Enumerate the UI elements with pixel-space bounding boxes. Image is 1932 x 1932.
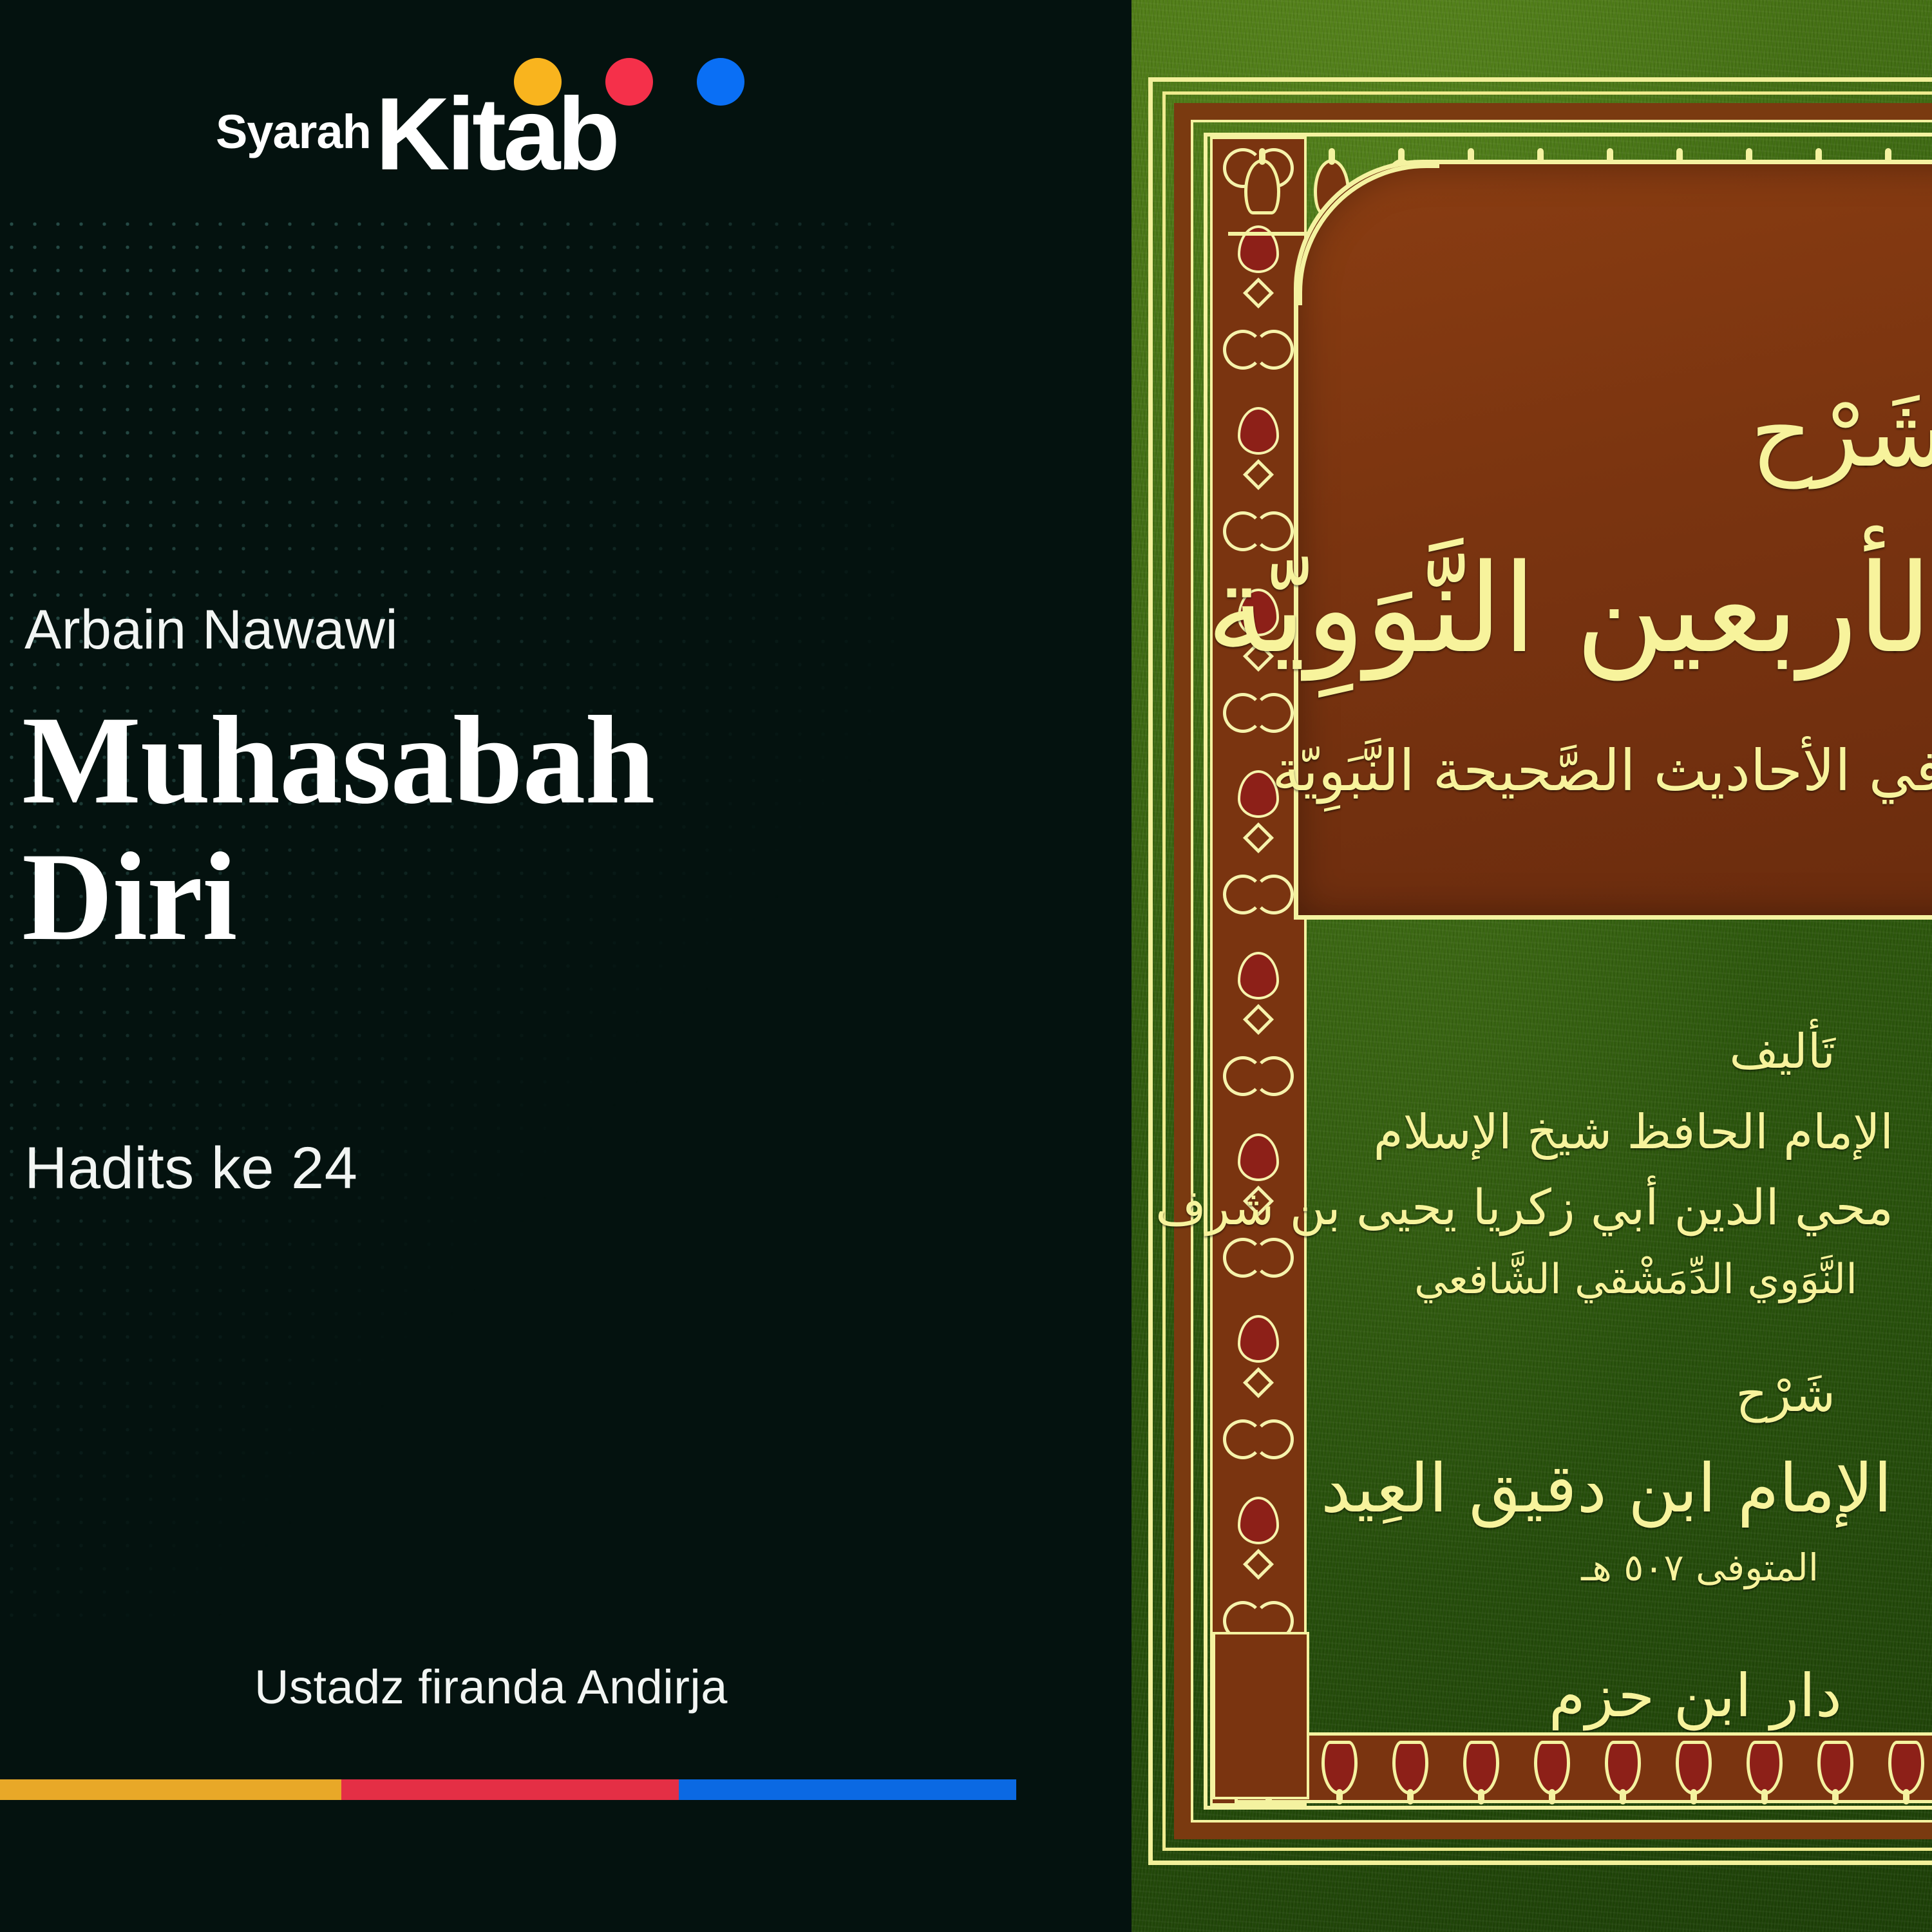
arabesque-scroll-motif (1218, 325, 1299, 406)
arabic-death-year: المتوفى ٥٠٧ هـ (1581, 1546, 1819, 1589)
blue-dot-icon (697, 58, 744, 106)
arabic-main-title: الأربعين النَّوَوِيّة (1206, 538, 1932, 680)
arabesque-diamond-motif (1243, 278, 1274, 308)
fleur-motif (1891, 1744, 1921, 1792)
arabesque-petal-motif (1240, 1136, 1276, 1179)
fleur-motif (1750, 1744, 1779, 1792)
corner-arabesque (1213, 1632, 1309, 1799)
title-panel: شَرْح الأربعين النَّوَوِيّة في الأحاديث … (1294, 160, 1932, 920)
arabesque-petal-motif (1240, 410, 1276, 452)
arabesque-petal-motif (1240, 954, 1276, 997)
page-title: Muhasabah Diri (22, 692, 1117, 965)
accent-bar-red (341, 1779, 679, 1800)
arabic-author-line-2: محي الدين أبي زكريا يحيى بن شرف (1155, 1179, 1893, 1236)
arabesque-scroll-motif (1218, 1233, 1299, 1314)
arabesque-side-column (1210, 137, 1307, 1806)
arabic-taklif-label: تَأليف (1729, 1024, 1835, 1079)
arabesque-diamond-motif (1243, 1549, 1274, 1580)
arabesque-scroll-motif (1218, 1414, 1299, 1495)
arabic-sharh-label: شَرْح (1736, 1365, 1835, 1423)
arabesque-petal-motif (1240, 773, 1276, 815)
arabesque-petal-motif (1240, 1318, 1276, 1360)
arabic-sharh-word: شَرْح (1750, 377, 1932, 489)
arabic-publisher: دار ابن حزم (1549, 1662, 1842, 1730)
page-subtitle: Hadits ke 24 (24, 1139, 357, 1198)
arabic-author-line-1: الإمام الحافظ شيخ الإسلام (1374, 1104, 1893, 1160)
arabesque-petal-motif (1240, 1499, 1276, 1542)
fleur-motif (1396, 1744, 1425, 1792)
book-cover-image: شَرْح الأربعين النَّوَوِيّة في الأحاديث … (1132, 0, 1932, 1932)
accent-bar-blue (679, 1779, 1016, 1800)
arabic-commentator: الإمام ابن دقيق العِيد (1321, 1449, 1892, 1528)
arabesque-diamond-motif (1243, 1367, 1274, 1398)
arabesque-scroll-motif (1218, 1051, 1299, 1132)
arabesque-scroll-motif (1218, 869, 1299, 951)
arabic-author-line-3: النَّوَوي الدِّمَشْقي الشَّافعي (1414, 1256, 1857, 1303)
fleur-motif (1679, 1744, 1709, 1792)
fleur-motif (1247, 162, 1277, 211)
fleur-motif (1466, 1744, 1496, 1792)
arabesque-diamond-motif (1243, 822, 1274, 853)
brand-logo[interactable]: Syarah Kitab (216, 58, 795, 196)
fleur-motif (1608, 1744, 1638, 1792)
slide-canvas: Syarah Kitab Arbain Nawawi Muhasabah Dir… (0, 0, 1932, 1932)
brand-word-syarah: Syarah (216, 108, 371, 156)
fleur-motif (1821, 1744, 1850, 1792)
bottom-ornament-band (1235, 1732, 1932, 1803)
arabesque-diamond-motif (1243, 459, 1274, 490)
series-eyebrow: Arbain Nawawi (24, 602, 398, 658)
page-title-line-2: Diri (22, 829, 1117, 965)
arabic-subtitle: في الأحاديث الصَّحيحة النَّبَوِيّة (1272, 737, 1932, 804)
accent-bar-yellow (0, 1779, 341, 1800)
fleur-motif (1325, 1744, 1354, 1792)
speaker-name: Ustadz firanda Andirja (254, 1663, 728, 1711)
left-content-panel: Syarah Kitab Arbain Nawawi Muhasabah Dir… (0, 0, 1132, 1932)
accent-color-bar (0, 1779, 1016, 1800)
page-title-line-1: Muhasabah (22, 692, 1117, 829)
fleur-motif (1537, 1744, 1567, 1792)
arabesque-diamond-motif (1243, 1004, 1274, 1035)
brand-word-kitab: Kitab (375, 82, 617, 185)
